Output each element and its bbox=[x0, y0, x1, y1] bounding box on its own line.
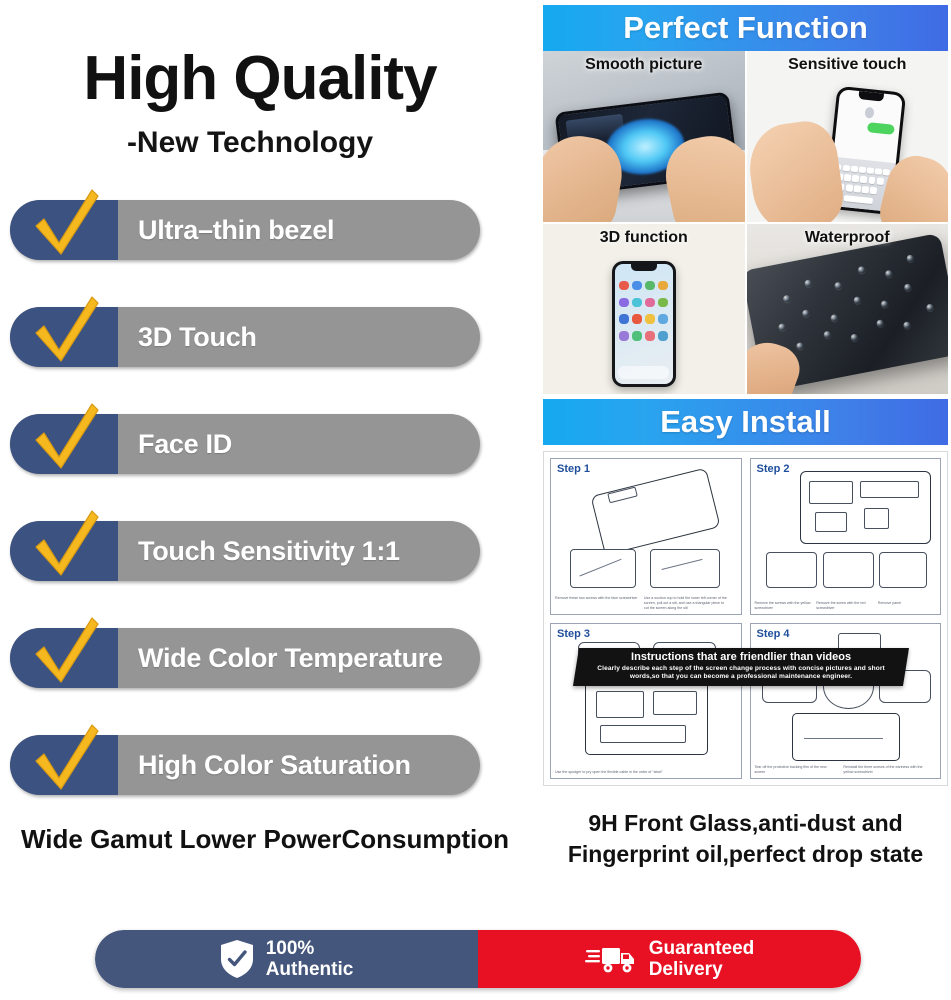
step-sketch bbox=[551, 624, 741, 779]
check-icon bbox=[28, 509, 104, 581]
feature-item-high-color-saturation[interactable]: High Color Saturation bbox=[10, 735, 480, 795]
install-diagram: Step 1 Remove these two screws with the … bbox=[543, 451, 948, 786]
install-step-1: Step 1 Remove these two screws with the … bbox=[550, 458, 742, 615]
install-step-3: Step 3 Use the spudger to pry open the f… bbox=[550, 623, 742, 780]
step-captions: Remove these two screws with the blue sc… bbox=[555, 596, 737, 611]
feature-check-cap bbox=[10, 521, 118, 581]
feature-check-cap bbox=[10, 307, 118, 367]
step-captions: Tear off the protective backing film of … bbox=[755, 765, 937, 775]
feature-check-cap bbox=[10, 414, 118, 474]
badge-line2: Authentic bbox=[266, 959, 354, 980]
feature-item-face-id[interactable]: Face ID bbox=[10, 414, 480, 474]
instructions-ribbon: Instructions that are friendlier than vi… bbox=[573, 648, 909, 686]
feature-item-touch-sensitivity[interactable]: Touch Sensitivity 1:1 bbox=[10, 521, 480, 581]
step-sketch bbox=[751, 624, 941, 779]
check-icon bbox=[28, 402, 104, 474]
badge-text: Guaranteed Delivery bbox=[649, 938, 755, 981]
product-infographic: High Quality -New Technology Ultra–thin … bbox=[0, 0, 951, 1000]
left-panel: High Quality -New Technology Ultra–thin … bbox=[0, 0, 540, 915]
photo-label: Smooth picture bbox=[543, 56, 745, 74]
chat-bubble bbox=[867, 122, 894, 134]
badge-authentic[interactable]: 100% Authentic bbox=[95, 930, 478, 988]
check-icon bbox=[28, 616, 104, 688]
badge-delivery[interactable]: Guaranteed Delivery bbox=[478, 930, 861, 988]
shield-check-icon bbox=[220, 939, 254, 979]
feature-label: Wide Color Temperature bbox=[118, 643, 480, 674]
step-sketch bbox=[751, 459, 941, 614]
band-title: Easy Install bbox=[660, 404, 831, 440]
left-caption: Wide Gamut Lower PowerConsumption bbox=[0, 825, 530, 854]
check-icon bbox=[28, 295, 104, 367]
photo-label: 3D function bbox=[543, 229, 745, 247]
step-caption-a: Remove these two screws with the blue sc… bbox=[555, 596, 638, 601]
photo-label: Waterproof bbox=[747, 229, 949, 247]
check-icon bbox=[28, 188, 104, 260]
phone-dock bbox=[618, 366, 669, 379]
step-title: Step 1 bbox=[557, 463, 590, 475]
feature-check-cap bbox=[10, 628, 118, 688]
feature-item-wide-color-temperature[interactable]: Wide Color Temperature bbox=[10, 628, 480, 688]
page-subtitle: -New Technology bbox=[0, 128, 500, 158]
right-caption: 9H Front Glass,anti-dust and Fingerprint… bbox=[540, 808, 951, 870]
easy-install-band: Easy Install bbox=[543, 399, 948, 445]
feature-list: Ultra–thin bezel 3D Touch Face ID bbox=[10, 200, 480, 842]
install-step-2: Step 2 Remove the screws with the yellow… bbox=[750, 458, 942, 615]
badge-text: 100% Authentic bbox=[266, 938, 354, 981]
feature-label: Face ID bbox=[118, 429, 480, 460]
perfect-function-band: Perfect Function bbox=[543, 5, 948, 51]
step-captions: Remove the screws with the yellow screwd… bbox=[755, 601, 937, 611]
trust-badge-bar: 100% Authentic Guaranteed Delivery bbox=[95, 930, 861, 988]
contact-avatar bbox=[864, 106, 874, 117]
right-caption-line2: Fingerprint oil,perfect drop state bbox=[540, 839, 951, 870]
step-sketch bbox=[551, 459, 741, 614]
badge-line1: Guaranteed bbox=[649, 938, 755, 959]
install-step-4: Step 4 Tear off the protective backing f… bbox=[750, 623, 942, 780]
photo-sensitive-touch: Sensitive touch bbox=[747, 51, 949, 222]
feature-check-cap bbox=[10, 735, 118, 795]
check-icon bbox=[28, 723, 104, 795]
ribbon-title: Instructions that are friendlier than vi… bbox=[582, 651, 900, 665]
page-title: High Quality bbox=[0, 48, 520, 110]
photo-smooth-picture: Smooth picture bbox=[543, 51, 745, 222]
band-title: Perfect Function bbox=[623, 10, 868, 46]
feature-photo-grid: Smooth picture bbox=[543, 51, 948, 394]
feature-item-3d-touch[interactable]: 3D Touch bbox=[10, 307, 480, 367]
step-caption-b: Reinstall the three screws of the earine… bbox=[843, 765, 926, 775]
feature-item-ultra-thin-bezel[interactable]: Ultra–thin bezel bbox=[10, 200, 480, 260]
phone-screen bbox=[615, 264, 673, 384]
step-caption-c: Remove panel bbox=[878, 601, 931, 606]
step-grid: Step 1 Remove these two screws with the … bbox=[550, 458, 941, 779]
photo-3d-function: 3D function bbox=[543, 224, 745, 395]
photo-waterproof: Waterproof bbox=[747, 224, 949, 395]
step-caption-a: Tear off the protective backing film of … bbox=[755, 765, 838, 775]
feature-label: High Color Saturation bbox=[118, 750, 480, 781]
hand-holding-phone bbox=[747, 117, 847, 222]
step-caption-a: Use the spudger to pry open the flexible… bbox=[555, 770, 729, 775]
step-caption-b: Use a suction cup to hold the lower left… bbox=[644, 596, 727, 611]
feature-label: Ultra–thin bezel bbox=[118, 215, 480, 246]
ribbon-subtitle: Clearly describe each step of the screen… bbox=[582, 665, 900, 682]
step-title: Step 4 bbox=[757, 628, 790, 640]
right-caption-line1: 9H Front Glass,anti-dust and bbox=[540, 808, 951, 839]
step-caption-a: Remove the screws with the yellow screwd… bbox=[755, 601, 811, 611]
feature-label: Touch Sensitivity 1:1 bbox=[118, 536, 480, 567]
delivery-truck-icon bbox=[585, 942, 637, 976]
step-title: Step 3 bbox=[557, 628, 590, 640]
step-title: Step 2 bbox=[757, 463, 790, 475]
step-captions: Use the spudger to pry open the flexible… bbox=[555, 770, 737, 775]
feature-check-cap bbox=[10, 200, 118, 260]
phone-notch bbox=[631, 264, 657, 271]
phone-portrait-homescreen bbox=[612, 261, 676, 387]
phone-notch bbox=[858, 91, 884, 102]
feature-label: 3D Touch bbox=[118, 322, 480, 353]
right-panel: Perfect Function Smooth picture bbox=[540, 0, 951, 915]
badge-line1: 100% bbox=[266, 938, 354, 959]
photo-label: Sensitive touch bbox=[747, 56, 949, 74]
badge-line2: Delivery bbox=[649, 959, 755, 980]
step-caption-b: Remove the screw with the red screwdrive… bbox=[816, 601, 872, 611]
